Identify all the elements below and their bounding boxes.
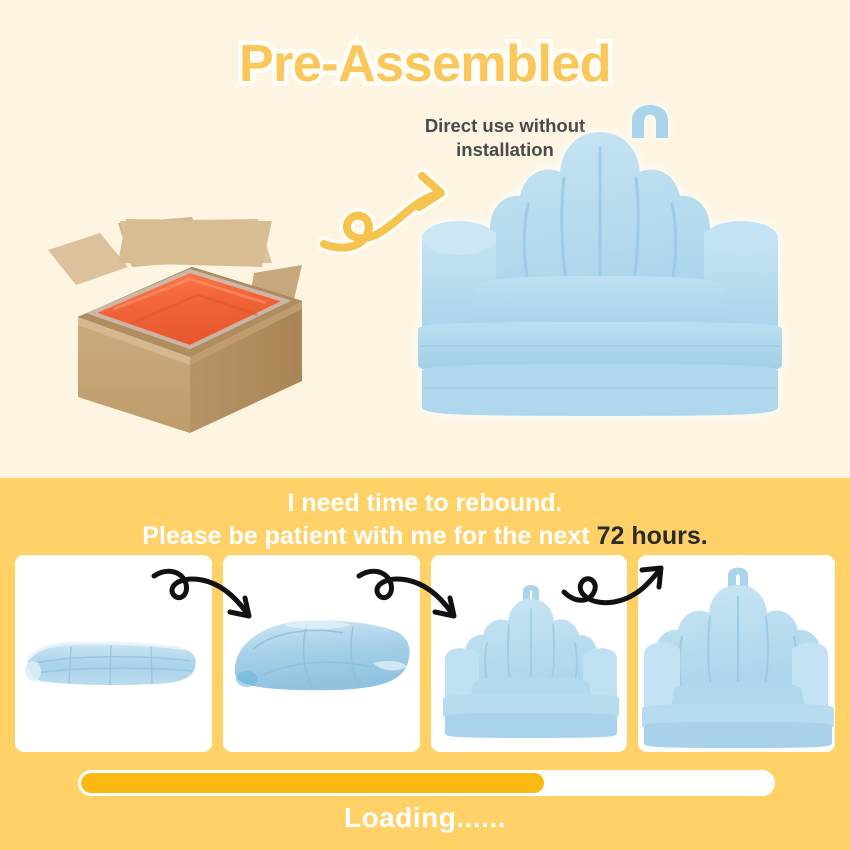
banner-line-2-prefix: Please be patient with me for the next (142, 522, 596, 550)
banner-line-2: Please be patient with me for the next 7… (0, 520, 850, 553)
stage-panel-2 (223, 555, 420, 752)
banner-message: I need time to rebound. Please be patien… (0, 487, 850, 554)
banner-hours-highlight: 72 hours. (597, 522, 708, 550)
hero-section: Pre-Assembled Direct use without install… (0, 0, 850, 478)
page-title: Pre-Assembled (0, 34, 850, 94)
stage-2-image (223, 555, 419, 752)
cardboard-box-image (40, 205, 350, 440)
stage-4-image (638, 555, 834, 752)
banner-line-1: I need time to rebound. (0, 487, 850, 520)
stage-3-image (431, 555, 627, 752)
rebound-stage-panels (15, 555, 835, 752)
stage-panel-1 (15, 555, 212, 752)
stage-panel-3 (431, 555, 628, 752)
progress-fill (81, 773, 544, 793)
stage-1-image (15, 555, 211, 752)
loading-label: Loading...... (0, 802, 850, 834)
loading-progress-bar (78, 770, 775, 796)
sofa-hero-image (400, 92, 800, 442)
stage-panel-4 (638, 555, 835, 752)
progress-track (81, 773, 772, 793)
